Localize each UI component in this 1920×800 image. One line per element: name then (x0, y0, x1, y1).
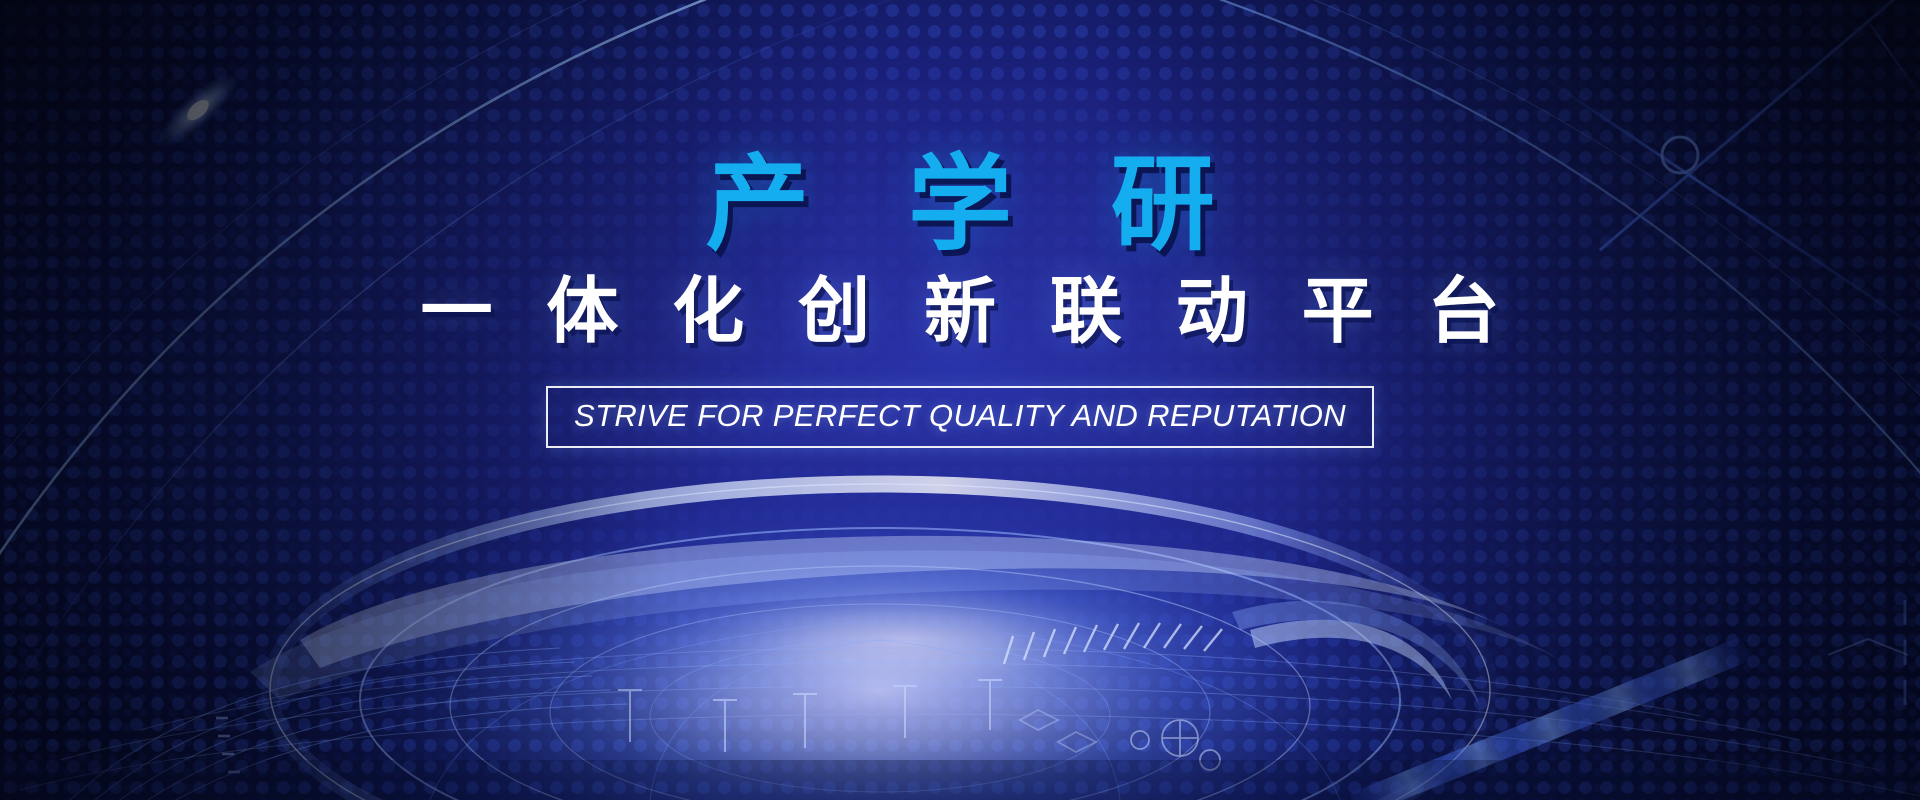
background-decoration (0, 0, 1920, 800)
arc-top-right (1030, 0, 1920, 520)
chevron-right-icon (1828, 639, 1908, 655)
connector-lines-top-right (1540, 0, 1920, 330)
tech-banner: 产 学 研 一 体 化 创 新 联 动 平 台 STRIVE FOR PERFE… (0, 0, 1920, 800)
